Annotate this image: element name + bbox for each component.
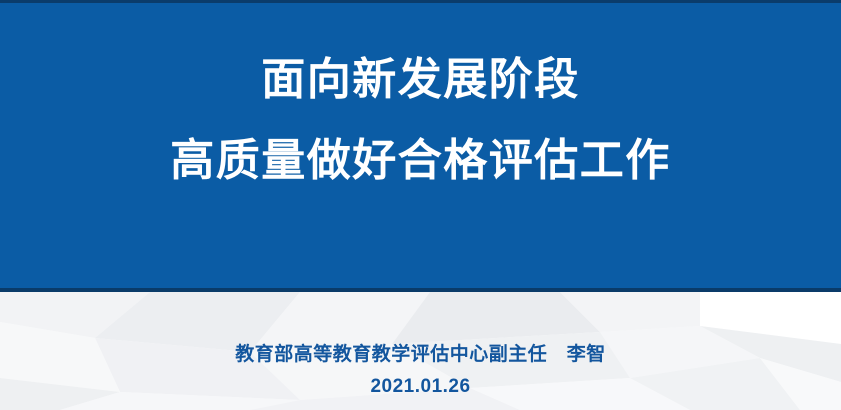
presenter-line: 教育部高等教育教学评估中心副主任 李智 <box>235 339 606 366</box>
title-line-2: 高质量做好合格评估工作 <box>170 139 671 184</box>
title-line-1: 面向新发展阶段 <box>261 58 580 103</box>
title-block: 面向新发展阶段 高质量做好合格评估工作 <box>0 0 841 288</box>
footer-text-block: 教育部高等教育教学评估中心副主任 李智 2021.01.26 <box>0 292 841 410</box>
date-line: 2021.01.26 <box>370 376 470 398</box>
title-slide: 面向新发展阶段 高质量做好合格评估工作 教育部高等教育教学评估中心副主任 <box>0 0 841 410</box>
